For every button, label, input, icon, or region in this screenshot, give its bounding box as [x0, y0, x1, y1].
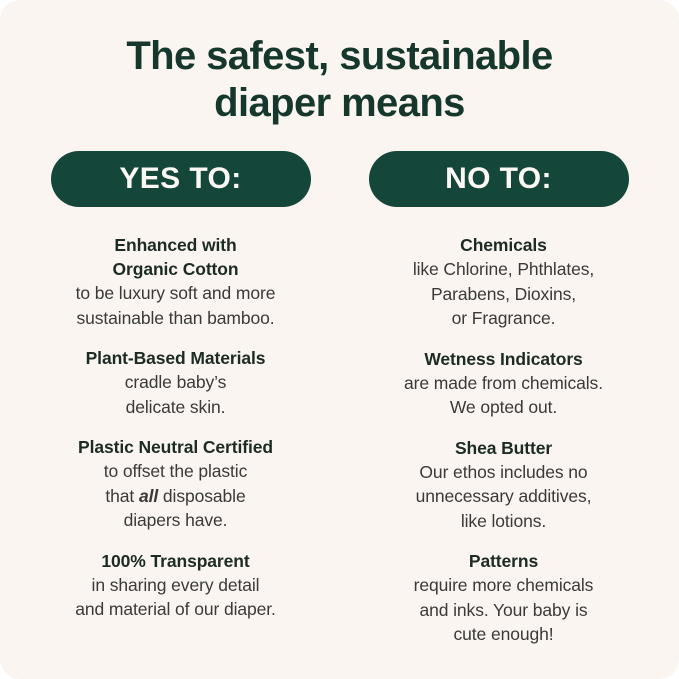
- item-body: to be luxury soft and more sustainable t…: [41, 281, 311, 330]
- item-body: in sharing every detail and material of …: [41, 573, 311, 622]
- item-title: Patterns: [369, 549, 639, 573]
- list-item: 100% Transparent in sharing every detail…: [41, 549, 311, 622]
- yes-column: Enhanced with Organic Cotton to be luxur…: [41, 233, 311, 647]
- item-title: Wetness Indicators: [369, 347, 639, 371]
- item-body-emphasis: all: [139, 486, 158, 506]
- no-column: Chemicals like Chlorine, Phthlates, Para…: [369, 233, 639, 647]
- item-body: cradle baby’s delicate skin.: [41, 370, 311, 419]
- list-item: Chemicals like Chlorine, Phthlates, Para…: [369, 233, 639, 331]
- item-body: require more chemicals and inks. Your ba…: [369, 573, 639, 647]
- list-item: Wetness Indicators are made from chemica…: [369, 347, 639, 420]
- list-item: Plastic Neutral Certified to offset the …: [41, 435, 311, 533]
- infographic-card: The safest, sustainable diaper means YES…: [0, 0, 679, 679]
- list-item: Shea Butter Our ethos includes no unnece…: [369, 436, 639, 534]
- list-item: Plant-Based Materials cradle baby’s deli…: [41, 346, 311, 419]
- column-header-row: YES TO: NO TO:: [0, 151, 679, 207]
- item-title: Shea Butter: [369, 436, 639, 460]
- item-title: Enhanced with Organic Cotton: [41, 233, 311, 281]
- page-title: The safest, sustainable diaper means: [0, 0, 679, 127]
- yes-to-pill: YES TO:: [51, 151, 311, 207]
- no-to-pill: NO TO:: [369, 151, 629, 207]
- comparison-columns: Enhanced with Organic Cotton to be luxur…: [0, 233, 679, 647]
- item-title: Plastic Neutral Certified: [41, 435, 311, 459]
- item-title: 100% Transparent: [41, 549, 311, 573]
- list-item: Patterns require more chemicals and inks…: [369, 549, 639, 647]
- item-body: Our ethos includes no unnecessary additi…: [369, 460, 639, 534]
- list-item: Enhanced with Organic Cotton to be luxur…: [41, 233, 311, 330]
- item-body: like Chlorine, Phthlates, Parabens, Diox…: [369, 257, 639, 331]
- item-body: are made from chemicals. We opted out.: [369, 371, 639, 420]
- item-title: Chemicals: [369, 233, 639, 257]
- item-body: to offset the plastic that all disposabl…: [41, 459, 311, 533]
- item-title: Plant-Based Materials: [41, 346, 311, 370]
